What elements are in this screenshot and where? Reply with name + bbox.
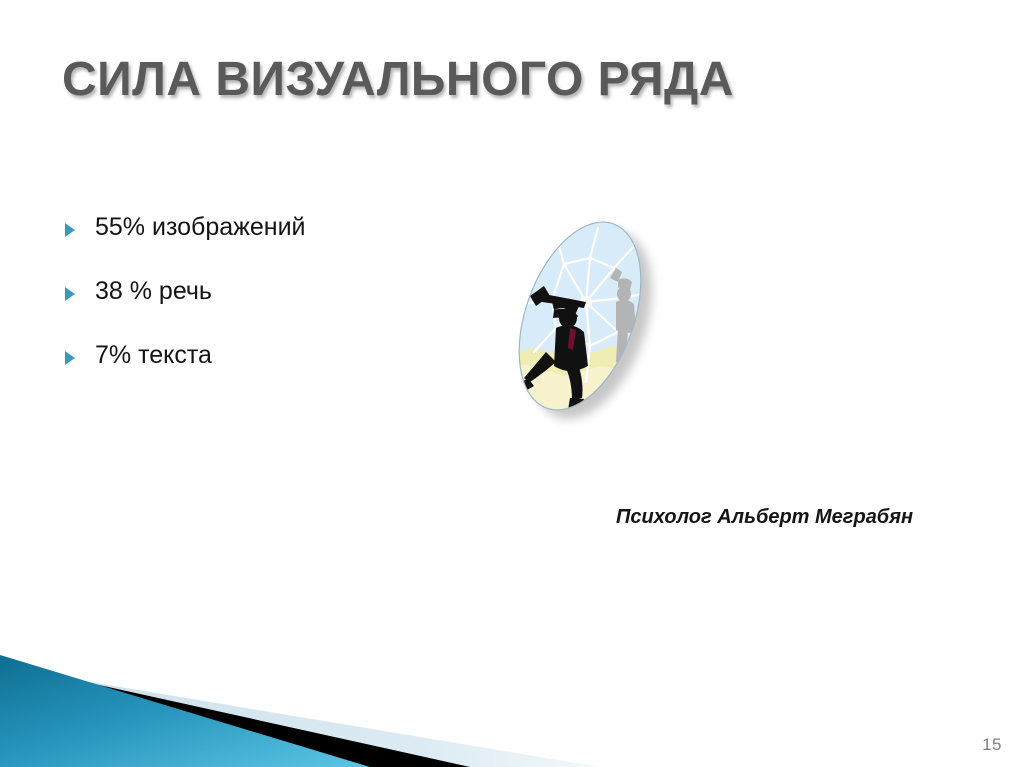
- list-item-label: 38 % речь: [95, 276, 212, 307]
- page-title: СИЛА ВИЗУАЛЬНОГО РЯДА: [62, 54, 962, 107]
- triangle-right-icon: [64, 351, 76, 365]
- list-item: 55% изображений: [64, 212, 494, 276]
- man-breaking-mirror-illustration: [494, 206, 684, 436]
- list-item: 38 % речь: [64, 276, 494, 340]
- slide: СИЛА ВИЗУАЛЬНОГО РЯДА 55% изображений 38…: [0, 0, 1024, 767]
- attribution-text: Психолог Альберт Меграбян: [616, 506, 913, 529]
- bullet-list: 55% изображений 38 % речь 7% текста: [64, 212, 494, 404]
- page-number: 15: [982, 735, 1002, 755]
- list-item-label: 7% текста: [95, 340, 212, 371]
- decorative-bands: [0, 627, 1024, 767]
- list-item-label: 55% изображений: [95, 212, 306, 243]
- band-black: [0, 663, 470, 767]
- triangle-right-icon: [64, 287, 76, 301]
- band-pale-blue: [0, 667, 600, 767]
- list-item: 7% текста: [64, 340, 494, 404]
- band-teal: [0, 655, 370, 767]
- triangle-right-icon: [64, 223, 76, 237]
